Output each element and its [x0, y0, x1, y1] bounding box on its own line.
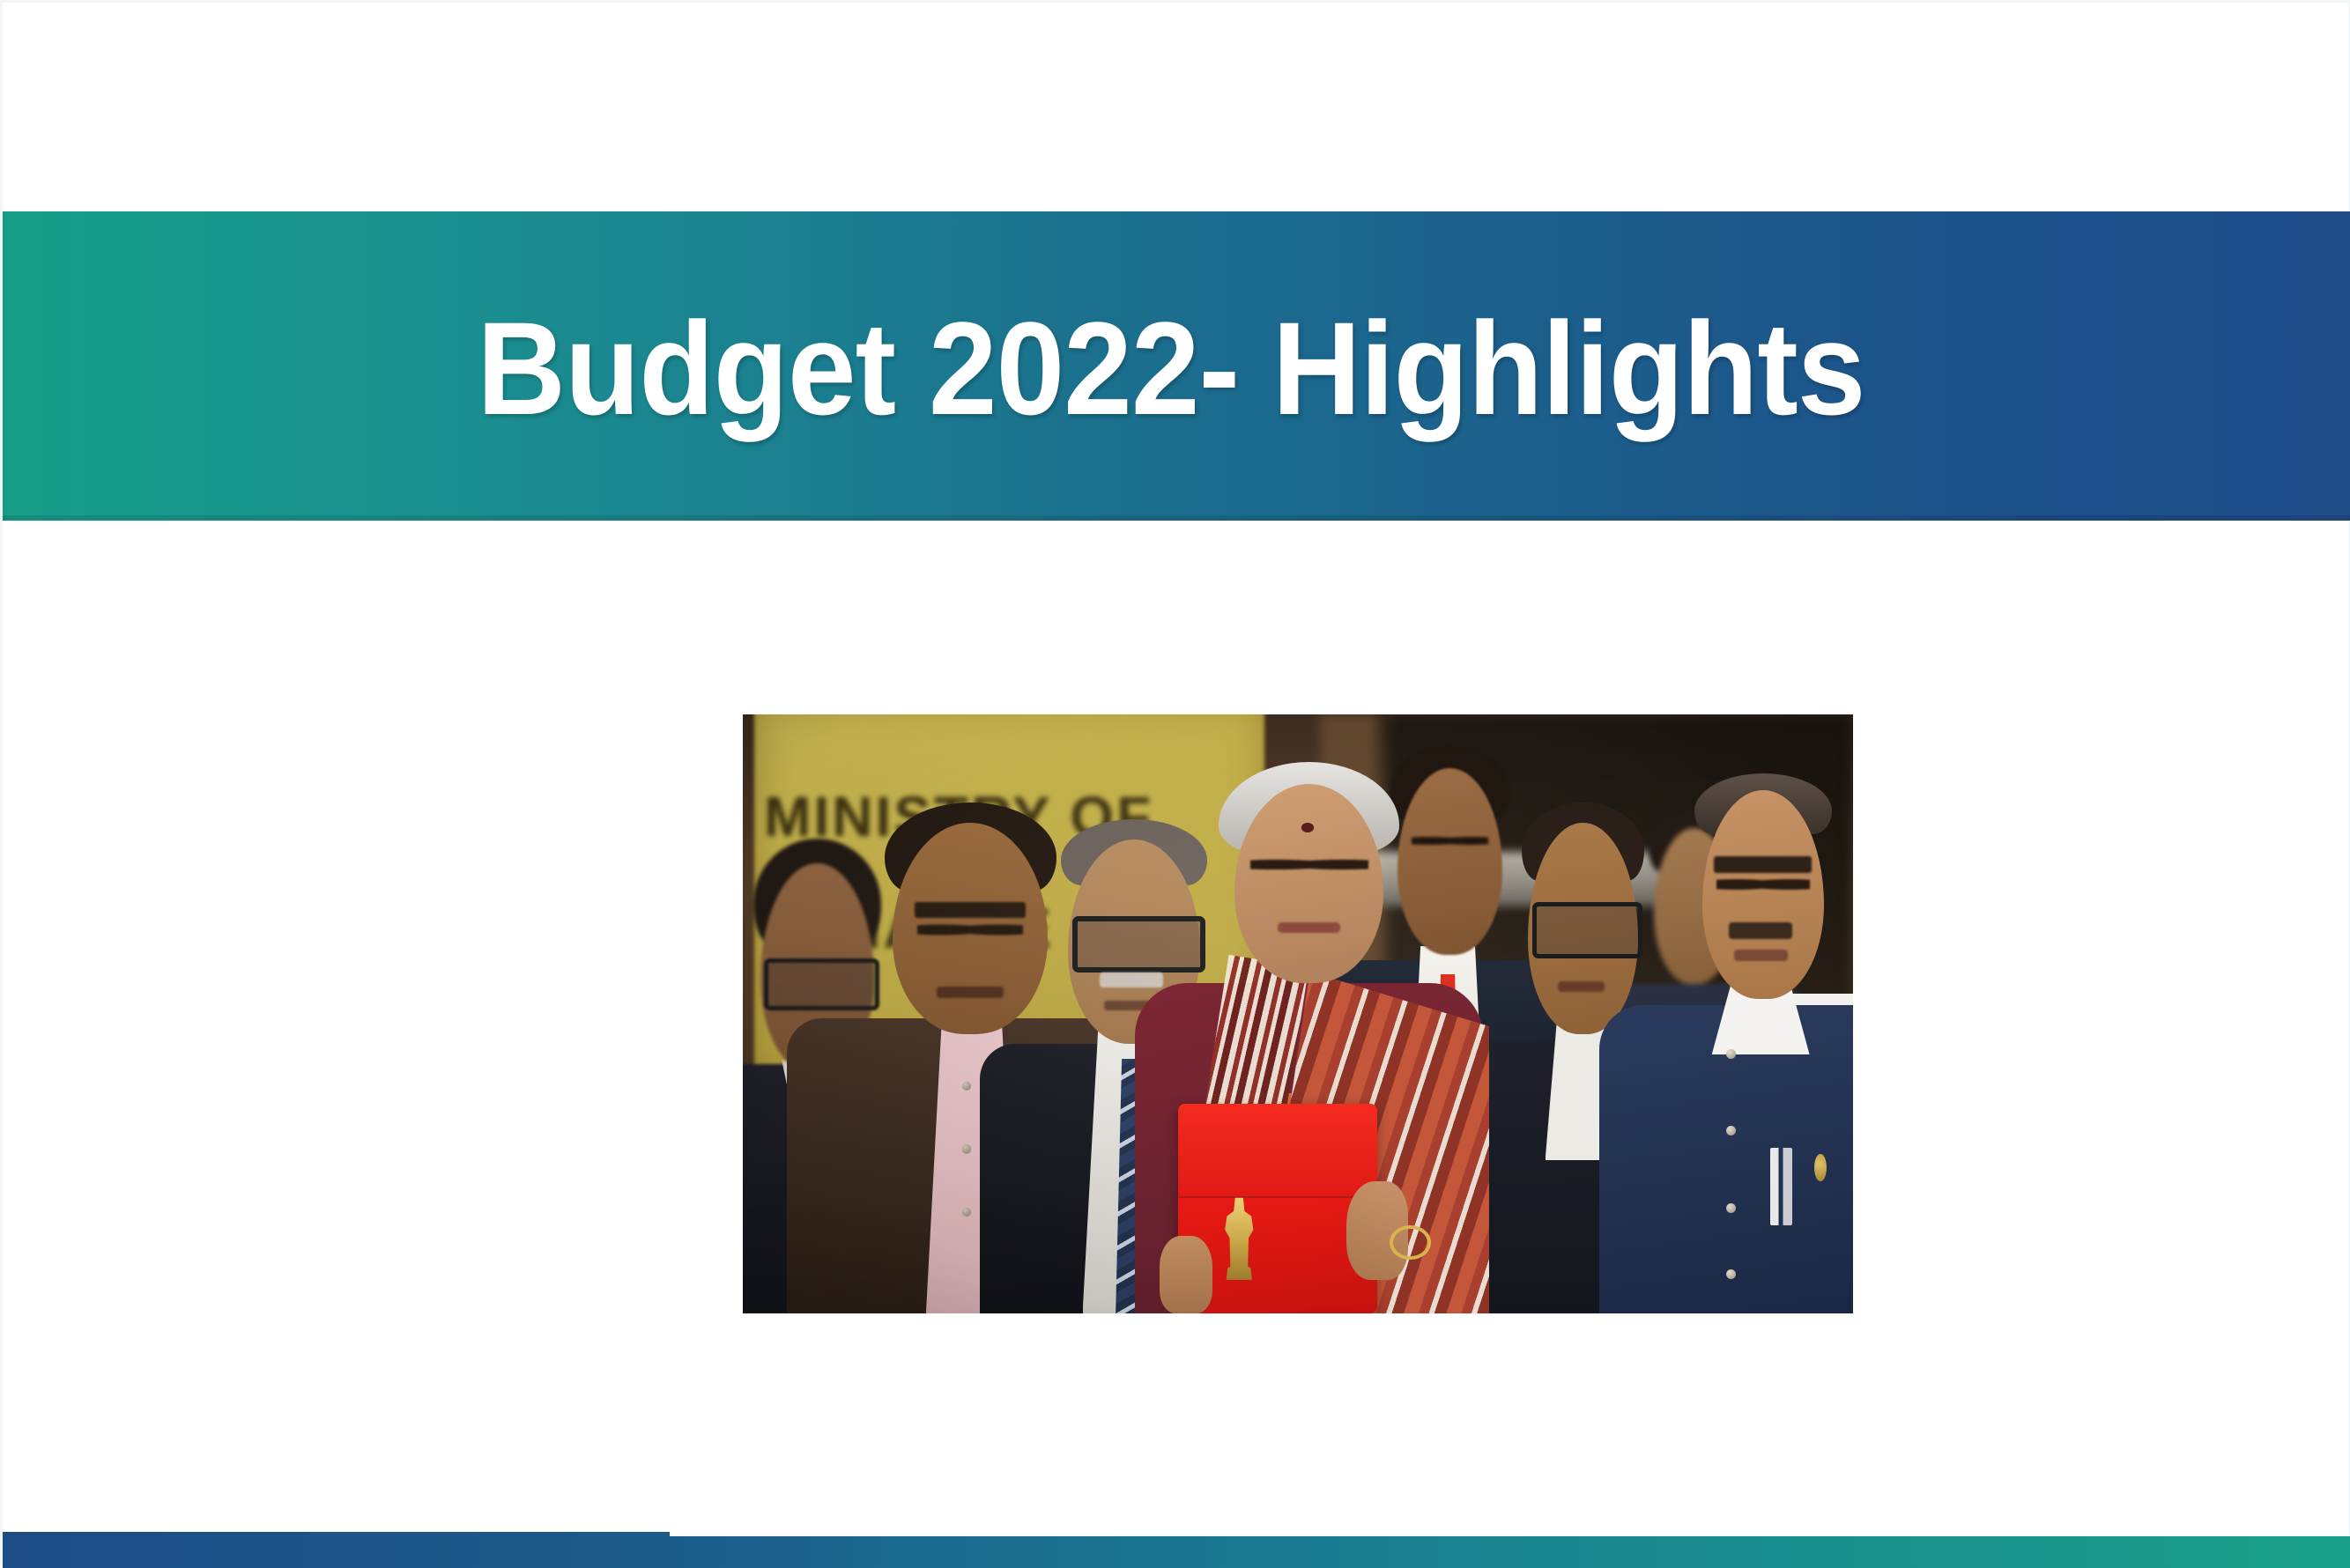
folder-flap [1178, 1104, 1377, 1198]
jacket-button [962, 1144, 971, 1153]
bottom-accent-bar-left [3, 1532, 670, 1568]
mouth [1278, 922, 1340, 934]
mouth [1734, 950, 1788, 961]
mouth [1558, 981, 1605, 992]
photo-content: MINISTRY OF FINANCE [743, 714, 1853, 1313]
eyes [1716, 876, 1809, 893]
mouth [937, 987, 1004, 998]
lapel-badge [1814, 1154, 1827, 1181]
moustache [1729, 922, 1792, 939]
glasses-icon [1532, 902, 1642, 958]
national-emblem-icon [1222, 1196, 1256, 1280]
eyebrows [1714, 856, 1812, 873]
person-finance-minister [1153, 762, 1464, 1313]
page-title: Budget 2022- Highlights [477, 302, 1864, 434]
pocket-pens [1770, 1148, 1792, 1225]
person-right-navy-jacket [1653, 762, 1853, 1313]
bottom-accent-bar-right [670, 1536, 2350, 1568]
eyes [917, 921, 1023, 938]
bangle [1390, 1225, 1431, 1260]
title-banner: Budget 2022- Highlights [3, 211, 2350, 521]
eyes [1250, 856, 1368, 873]
jacket-button [962, 1082, 971, 1091]
left-hand [1160, 1236, 1212, 1313]
slide-canvas: Budget 2022- Highlights MINISTRY OF FINA… [0, 0, 2350, 1565]
bindi [1301, 823, 1314, 832]
budget-photo: MINISTRY OF FINANCE [743, 714, 1853, 1313]
